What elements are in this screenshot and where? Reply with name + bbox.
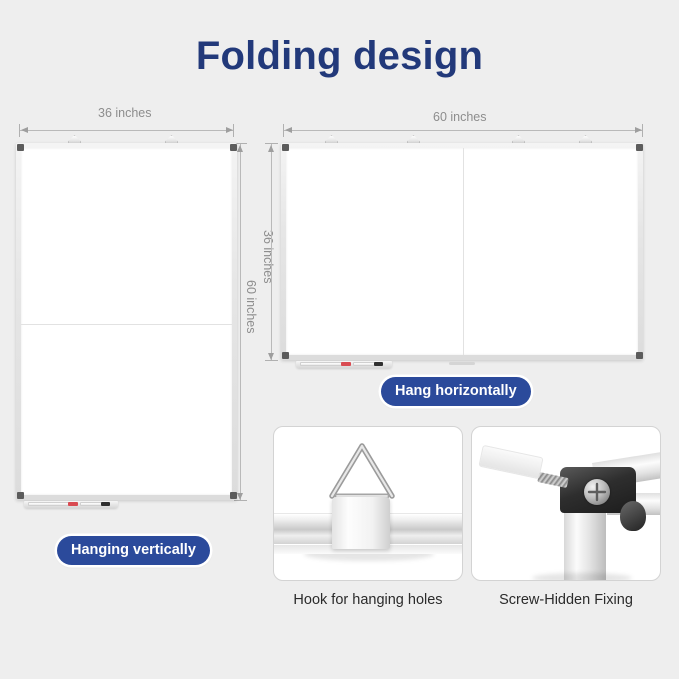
dim-arrow-up-icon	[237, 145, 243, 152]
red-marker	[68, 502, 78, 506]
horizontal-board-width-label: 60 inches	[433, 110, 487, 124]
dim-line-height-36	[271, 144, 272, 360]
black-marker	[374, 362, 383, 366]
hook-clip-bracket	[332, 497, 390, 549]
marker-body	[28, 502, 72, 506]
caption-hook-for-hanging-holes: Hook for hanging holes	[273, 592, 463, 608]
black-marker	[101, 502, 110, 506]
vertical-board-width-label: 36 inches	[98, 106, 152, 120]
vertical-board-height-label: 60 inches	[244, 280, 258, 334]
dim-arrow-left-icon	[21, 127, 28, 133]
badge-hanging-vertically: Hanging vertically	[57, 536, 210, 565]
frame-corner	[230, 492, 237, 499]
vertical-board-surface	[21, 148, 232, 495]
vertical-board-marker-tray	[24, 501, 118, 508]
infographic-canvas: Folding design 36 inches 60 inches Hangi…	[0, 0, 679, 679]
dim-endtick	[265, 360, 278, 361]
dim-arrow-down-icon	[268, 353, 274, 360]
detail-card-hook	[273, 426, 463, 581]
dim-arrow-down-icon	[237, 493, 243, 500]
frame-corner	[17, 144, 24, 151]
fold-seam-horizontal	[21, 324, 232, 325]
vertical-whiteboard	[16, 143, 237, 500]
dim-arrow-right-icon	[226, 127, 233, 133]
frame-corner	[636, 144, 643, 151]
frame-corner	[230, 144, 237, 151]
dim-arrow-right-icon	[635, 127, 642, 133]
horizontal-whiteboard	[281, 143, 643, 360]
badge-hang-horizontally: Hang horizontally	[381, 377, 531, 406]
frame-corner	[282, 352, 289, 359]
frame-corner	[17, 492, 24, 499]
caption-screw-hidden-fixing: Screw-Hidden Fixing	[471, 592, 661, 608]
triangle-wire-hook-icon	[326, 441, 398, 503]
marker-body	[300, 362, 344, 366]
screw-cover-cap	[620, 501, 646, 531]
frame-corner	[282, 144, 289, 151]
detail-card-screw	[471, 426, 661, 581]
dim-line-width-36	[20, 130, 233, 131]
horizontal-board-height-label: 36 inches	[261, 230, 275, 284]
dim-endtick	[642, 124, 643, 137]
page-title: Folding design	[0, 34, 679, 79]
dim-line-width-60	[284, 130, 642, 131]
photo-shadow	[532, 573, 632, 581]
dim-endtick	[234, 500, 247, 501]
horizontal-board-surface	[286, 148, 638, 355]
marker-body	[353, 362, 375, 366]
red-marker	[341, 362, 351, 366]
dim-endtick	[233, 124, 234, 137]
dim-arrow-left-icon	[285, 127, 292, 133]
wall-anchor	[478, 445, 543, 479]
dim-arrow-up-icon	[268, 145, 274, 152]
screw-head	[584, 479, 610, 505]
fold-seam-vertical	[463, 148, 464, 355]
frame-corner	[636, 352, 643, 359]
horizontal-board-marker-tray	[296, 361, 392, 368]
dim-line-height-60	[240, 144, 241, 500]
center-hanging-nub	[449, 362, 475, 365]
